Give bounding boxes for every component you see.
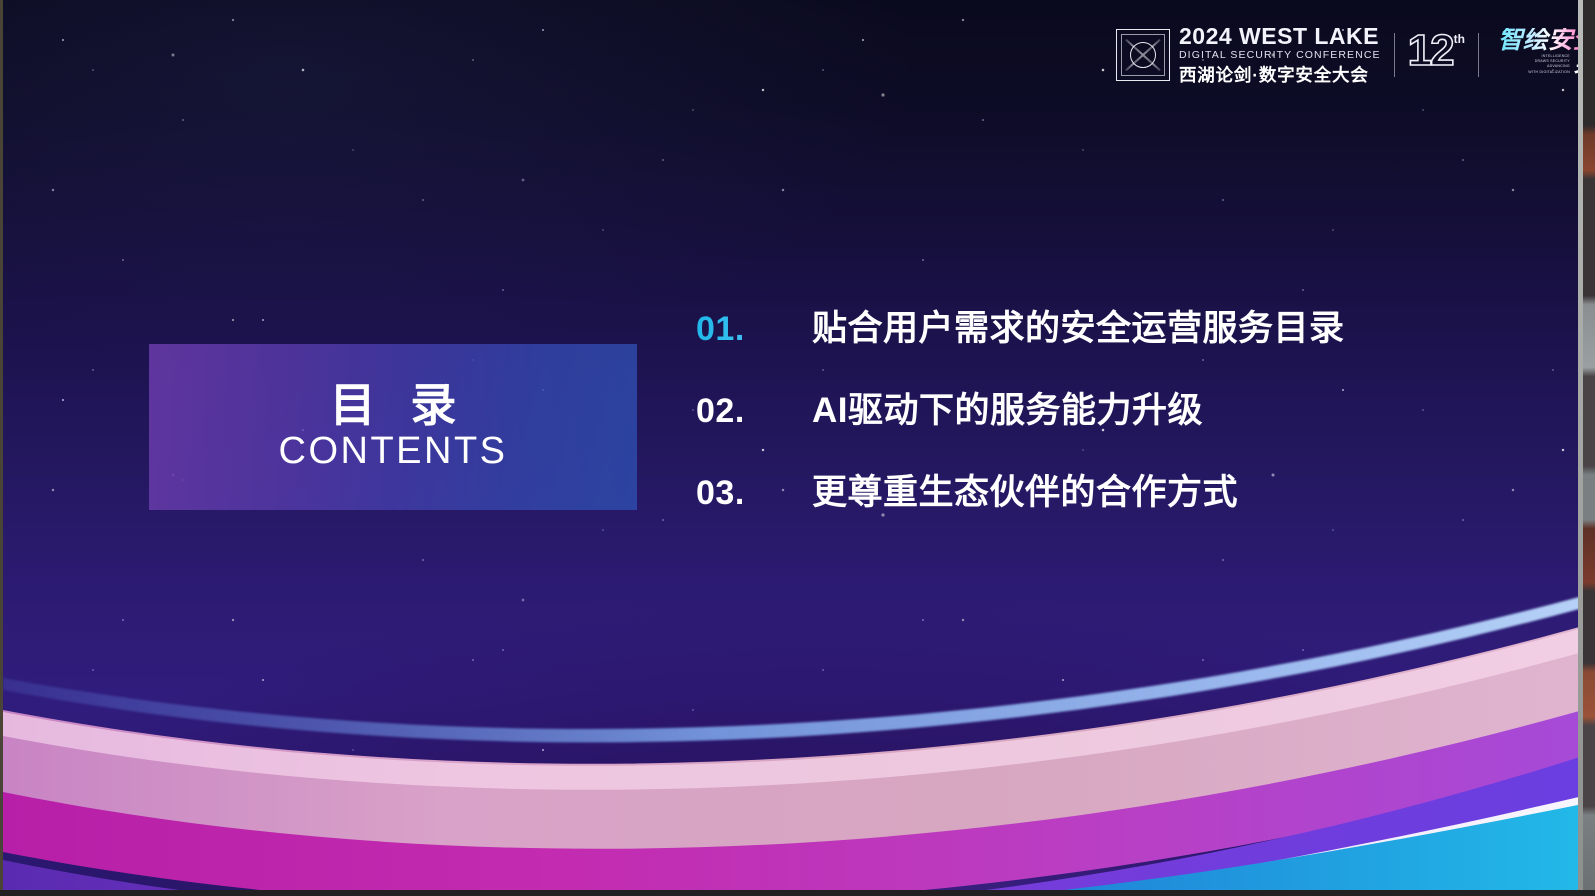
ribbon-white-hairline: [153, 796, 1583, 890]
ribbon-pink-band: [3, 626, 1583, 852]
decorative-ribbons: [3, 560, 1583, 890]
toc-number-03: 03.: [696, 476, 812, 510]
viewer-left-edge: [0, 0, 3, 896]
ribbon-magenta-band: [3, 710, 1583, 890]
slogan-micro-text: INTELLIGENCE DRAWS SECURITY ADVANCING WI…: [1514, 54, 1570, 75]
adjacent-window-sliver: [1583, 0, 1595, 896]
brand-en-line2: DIGITAL SECURITY CONFERENCE: [1179, 48, 1381, 64]
toc-item-01[interactable]: 01. 贴合用户需求的安全运营服务目录: [696, 310, 1345, 392]
viewer-right-divider: [1578, 0, 1583, 896]
contents-title-en: CONTENTS: [279, 431, 508, 473]
slogan-grid: 智绘安全 X INTELLIGENCE DRAWS SECURITY ADVAN…: [1492, 28, 1583, 82]
toc-label-03: 更尊重生态伙伴的合作方式: [812, 474, 1238, 513]
brand-cn-line: 西湖论剑·数字安全大会: [1179, 65, 1381, 85]
toc-label-01: 贴合用户需求的安全运营服务目录: [812, 310, 1345, 349]
logo-divider-2: [1478, 33, 1479, 77]
table-of-contents: 01. 贴合用户需求的安全运营服务目录 02. AI驱动下的服务能力升级 03.…: [696, 310, 1345, 556]
contents-title-cn: 目 录: [319, 381, 468, 429]
toc-item-02[interactable]: 02. AI驱动下的服务能力升级: [696, 392, 1345, 474]
conference-slogan: 智绘安全 X INTELLIGENCE DRAWS SECURITY ADVAN…: [1492, 27, 1583, 83]
slogan-line1: 智绘安全: [1498, 28, 1583, 53]
ribbon-blue-band: [433, 804, 1583, 890]
brand-text-block: 2024 WEST LAKE DIGITAL SECURITY CONFEREN…: [1179, 25, 1381, 85]
conference-logo-lockup: 2024 WEST LAKE DIGITAL SECURITY CONFEREN…: [1116, 26, 1583, 84]
toc-item-03[interactable]: 03. 更尊重生态伙伴的合作方式: [696, 474, 1345, 556]
ribbon-violet-band: [3, 756, 1583, 890]
ribbon-navy-shoulder: [3, 560, 1583, 723]
ribbon-pink-highlight: [3, 628, 1583, 790]
toc-label-02: AI驱动下的服务能力升级: [812, 392, 1203, 431]
edition-badge: 12 th: [1408, 30, 1465, 80]
ribbon-glow-arc: [3, 596, 1583, 742]
slide-viewer: 2024 WEST LAKE DIGITAL SECURITY CONFEREN…: [0, 0, 1595, 896]
west-lake-seal-icon: [1116, 29, 1170, 81]
toc-number-01: 01.: [696, 312, 812, 346]
edition-number: 12: [1408, 30, 1453, 72]
brand-en-line1: 2024 WEST LAKE: [1179, 25, 1381, 48]
viewer-bottom-edge: [0, 890, 1595, 896]
edition-suffix: th: [1454, 32, 1465, 46]
contents-panel: 目 录 CONTENTS: [149, 344, 637, 510]
seal-inner-ring-icon: [1130, 42, 1156, 68]
logo-divider-1: [1394, 33, 1395, 77]
toc-number-02: 02.: [696, 394, 812, 428]
presentation-slide: 2024 WEST LAKE DIGITAL SECURITY CONFEREN…: [3, 0, 1583, 890]
